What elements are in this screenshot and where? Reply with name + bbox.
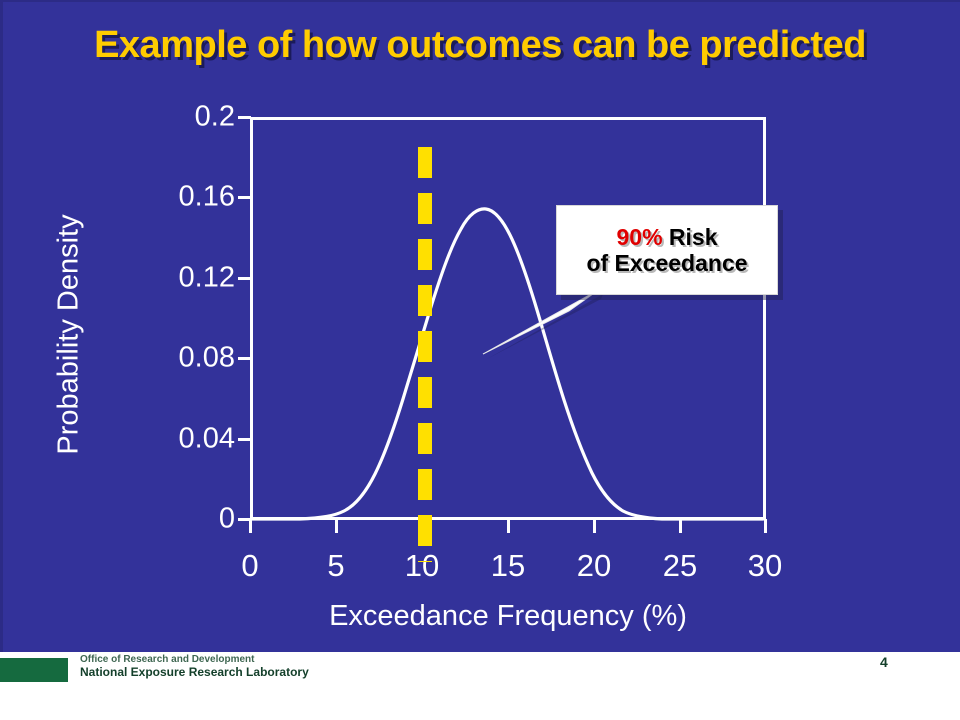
footer: Office of Research and Development Natio…	[0, 652, 960, 720]
x-tick-mark-1	[335, 519, 338, 533]
y-tick-mark-2	[238, 277, 251, 280]
x-tick-label-6: 30	[748, 548, 782, 584]
y-tick-mark-3	[238, 357, 251, 360]
x-tick-label-0: 0	[241, 548, 258, 584]
x-tick-mark-3	[507, 519, 510, 533]
y-tick-label-4: 0.04	[179, 423, 235, 456]
y-tick-label-0: 0.2	[195, 101, 235, 134]
x-tick-label-3: 15	[491, 548, 525, 584]
y-axis-title: Probability Density	[53, 205, 86, 465]
x-tick-mark-6	[764, 519, 767, 533]
y-tick-mark-1	[238, 196, 251, 199]
y-tick-label-5: 0	[219, 503, 235, 536]
y-tick-label-1: 0.16	[179, 181, 235, 214]
plot-frame	[250, 117, 766, 520]
y-tick-mark-0	[238, 116, 251, 119]
x-tick-label-5: 25	[663, 548, 697, 584]
callout-risk-text: Risk	[663, 224, 718, 250]
x-tick-mark-0	[249, 519, 252, 533]
y-axis-tick-labels: 0.2 0.16 0.12 0.08 0.04 0	[120, 0, 235, 652]
x-tick-label-1: 5	[327, 548, 344, 584]
footer-office-line: Office of Research and Development	[80, 654, 255, 665]
x-tick-label-4: 20	[577, 548, 611, 584]
probability-density-chart: 0.2 0.16 0.12 0.08 0.04 0 0 5 10 15 20 2…	[0, 0, 960, 652]
x-axis-title: Exceedance Frequency (%)	[250, 600, 766, 633]
y-tick-label-3: 0.08	[179, 342, 235, 375]
callout-line-1: 90% Risk	[616, 224, 717, 250]
callout-box[interactable]: 90% Risk of Exceedance	[556, 205, 778, 295]
footer-accent-bar	[0, 658, 68, 682]
callout-line-2: of Exceedance	[586, 250, 747, 276]
threshold-dashed-line	[418, 147, 432, 562]
x-tick-mark-5	[679, 519, 682, 533]
x-tick-mark-4	[593, 519, 596, 533]
footer-lab-line: National Exposure Research Laboratory	[80, 665, 309, 679]
callout-percent: 90%	[616, 224, 662, 250]
y-tick-label-2: 0.12	[179, 262, 235, 295]
slide: Example of how outcomes can be predicted…	[0, 0, 960, 720]
y-tick-mark-4	[238, 438, 251, 441]
page-number: 4	[880, 654, 888, 670]
